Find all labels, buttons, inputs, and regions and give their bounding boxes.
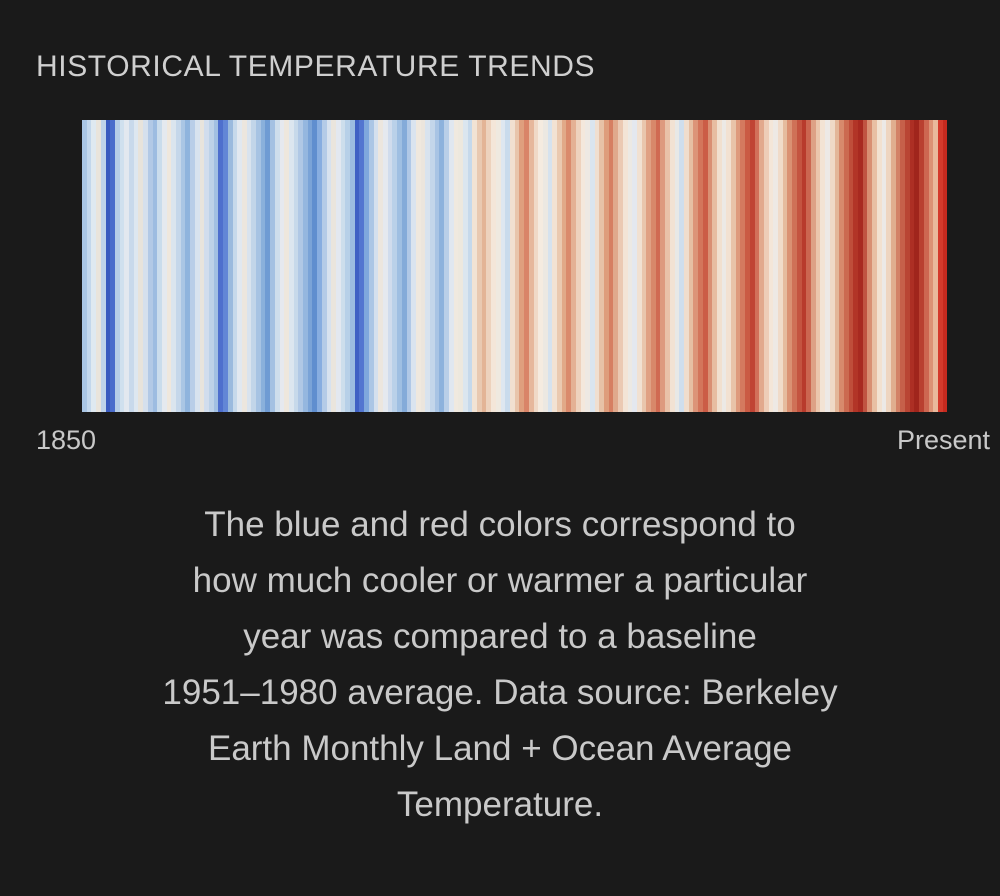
temperature-stripes-chart: [82, 120, 948, 412]
caption-line: how much cooler or warmer a particular: [28, 553, 972, 609]
chart-caption: The blue and red colors correspond tohow…: [28, 497, 972, 833]
caption-line: year was compared to a baseline: [28, 609, 972, 665]
chart-axis-labels: 1850 Present: [0, 425, 1000, 465]
caption-line: The blue and red colors correspond to: [28, 497, 972, 553]
caption-line: Earth Monthly Land + Ocean Average: [28, 721, 972, 777]
axis-start-label: 1850: [36, 425, 96, 456]
axis-end-label: Present: [897, 425, 990, 456]
caption-line: Temperature.: [28, 777, 972, 833]
page-title: HISTORICAL TEMPERATURE TRENDS: [36, 50, 595, 84]
stripe-band: [82, 120, 948, 412]
warming-stripes-page: HISTORICAL TEMPERATURE TRENDS 1850 Prese…: [0, 0, 1000, 896]
caption-line: 1951–1980 average. Data source: Berkeley: [28, 665, 972, 721]
temperature-stripe: [943, 120, 948, 412]
